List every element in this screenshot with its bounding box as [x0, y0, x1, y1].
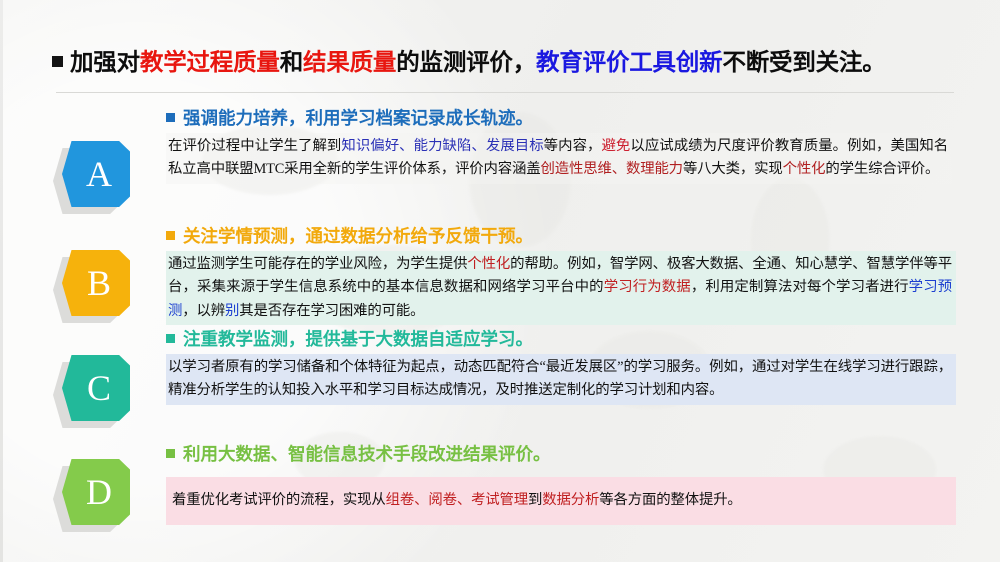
item-b-bullet-icon — [166, 231, 175, 240]
run-highlight: 个性化 — [783, 161, 826, 177]
badge-d[interactable]: D — [62, 459, 130, 525]
badge-d-letter: D — [62, 459, 130, 525]
run-highlight: 学习行为数据 — [604, 279, 691, 295]
badge-c-letter: C — [62, 355, 130, 421]
item-d: 利用大数据、智能信息技术手段改进结果评价。 着重优化考试评价的流程，实现从组卷、… — [166, 444, 956, 525]
item-a-bullet-icon — [166, 113, 175, 122]
item-a-body: 在评价过程中让学生了解到知识偏好、能力缺陷、发展目标等内容，避免以应试成绩为尺度… — [166, 133, 952, 184]
item-c: 注重教学监测，提供基于大数据自适应学习。 以学习者原有的学习储备和个体特征为起点… — [166, 329, 956, 405]
run-highlight: 别 — [225, 303, 239, 319]
item-a-heading-text: 强调能力培养，利用学习档案记录成长轨迹。 — [183, 108, 533, 128]
run-highlight: 避免 — [601, 138, 630, 154]
item-b-body: 通过监测学生可能存在的学业风险，为学生提供个性化的帮助。例如，智学网、极客大数据… — [166, 251, 956, 325]
title-segment-4-highlight: 结果质量 — [303, 49, 396, 75]
item-d-heading-text: 利用大数据、智能信息技术手段改进结果评价。 — [183, 444, 551, 464]
run-highlight: 个性化 — [467, 256, 510, 272]
run: 等内容， — [544, 138, 602, 154]
run: ，以辨 — [182, 303, 225, 319]
item-d-heading: 利用大数据、智能信息技术手段改进结果评价。 — [166, 444, 956, 465]
item-d-body: 着重优化考试评价的流程，实现从组卷、阅卷、考试管理到数据分析等各方面的整体提升。 — [166, 477, 956, 525]
item-b: 关注学情预测，通过数据分析给予反馈干预。 通过监测学生可能存在的学业风险，为学生… — [166, 226, 956, 325]
run: 通过监测学生可能存在的学业风险，为学生提供 — [168, 256, 467, 272]
run-highlight: 组卷、阅卷、考试管理 — [386, 492, 528, 508]
run: 着重优化考试评价的流程，实现从 — [172, 492, 386, 508]
item-b-heading-text: 关注学情预测，通过数据分析给予反馈干预。 — [183, 226, 533, 246]
run: ，利用定制算法对每个学习者进行 — [691, 279, 909, 295]
badge-c[interactable]: C — [62, 355, 130, 421]
title-segment-1: 加强对 — [70, 49, 140, 75]
badge-b-letter: B — [62, 250, 130, 316]
run: 在评价过程中让学生了解到 — [168, 138, 341, 154]
item-d-bullet-icon — [166, 449, 175, 458]
run-highlight: 创造性思维、数理能力 — [541, 161, 683, 177]
run: 等八大类，实现 — [683, 161, 783, 177]
page-title: 加强对教学过程质量和结果质量的监测评价，教育评价工具创新不断受到关注。 — [52, 50, 952, 76]
run-highlight: 知识偏好、能力缺陷、发展目标 — [341, 138, 543, 154]
item-c-heading: 注重教学监测，提供基于大数据自适应学习。 — [166, 329, 956, 350]
title-segment-2-highlight: 教学过程质量 — [140, 49, 280, 75]
run: 等各方面的整体提升。 — [599, 492, 741, 508]
item-c-heading-text: 注重教学监测，提供基于大数据自适应学习。 — [183, 329, 533, 349]
badge-a-letter: A — [62, 141, 130, 207]
item-c-bullet-icon — [166, 334, 175, 343]
run: 以学习者原有的学习储备和个体特征为起点，动态匹配符合“最近发展区”的学习服务。例… — [168, 359, 952, 398]
badge-a[interactable]: A — [62, 141, 130, 207]
slide-canvas: 加强对教学过程质量和结果质量的监测评价，教育评价工具创新不断受到关注。 A 强调… — [0, 0, 1000, 562]
run: 其是否存在学习困难的可能。 — [239, 303, 424, 319]
title-segment-3: 和 — [280, 49, 303, 75]
item-a-heading: 强调能力培养，利用学习档案记录成长轨迹。 — [166, 108, 956, 129]
item-b-heading: 关注学情预测，通过数据分析给予反馈干预。 — [166, 226, 956, 247]
title-segment-6-highlight: 教育评价工具创新 — [536, 49, 722, 75]
item-d-body-line: 着重优化考试评价的流程，实现从组卷、阅卷、考试管理到数据分析等各方面的整体提升。 — [172, 492, 742, 508]
item-c-body: 以学习者原有的学习储备和个体特征为起点，动态匹配符合“最近发展区”的学习服务。例… — [166, 354, 956, 405]
run: 到 — [528, 492, 542, 508]
title-segment-5: 的监测评价， — [396, 49, 536, 75]
badge-b[interactable]: B — [62, 250, 130, 316]
slide-title-text: 加强对教学过程质量和结果质量的监测评价，教育评价工具创新不断受到关注。 — [52, 50, 952, 76]
run: 的学生综合评价。 — [825, 161, 939, 177]
title-segment-7: 不断受到关注。 — [722, 49, 885, 75]
item-a: 强调能力培养，利用学习档案记录成长轨迹。 在评价过程中让学生了解到知识偏好、能力… — [166, 108, 956, 184]
square-bullet-icon — [52, 56, 63, 67]
run-highlight: 数据分析 — [542, 492, 599, 508]
title-divider — [56, 92, 954, 93]
